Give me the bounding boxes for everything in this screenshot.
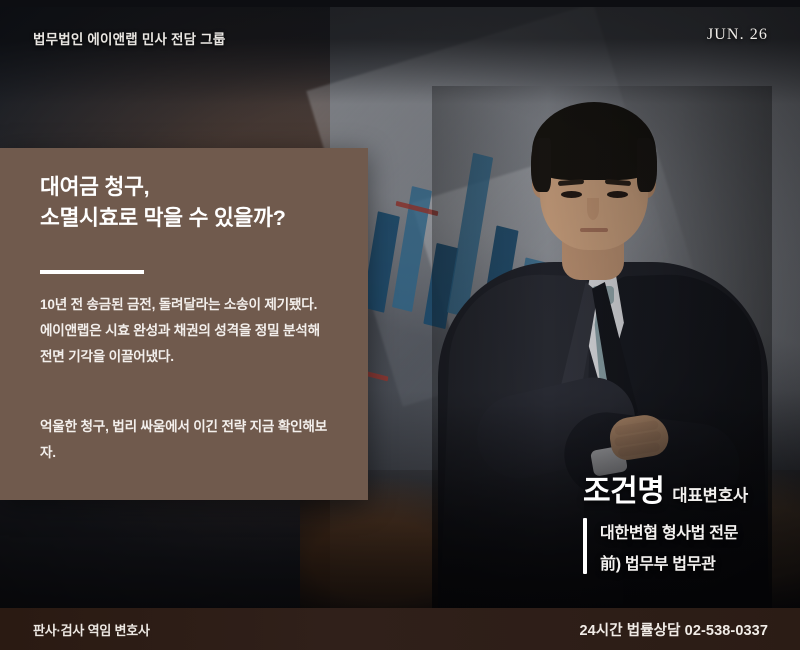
footer-bar: 판사·검사 역임 변호사 24시간 법률상담 02-538-0337 [0, 608, 800, 650]
headline: 대여금 청구, 소멸시효로 막을 수 있을까? [40, 172, 340, 233]
body-paragraph-2: 억울한 청구, 법리 싸움에서 이긴 전략 지금 확인해보자. [40, 414, 332, 466]
issue-date-label: JUN. 26 [707, 26, 768, 44]
credential-item: 대한변협 형사법 전문 [600, 519, 738, 543]
credentials-list: 대한변협 형사법 전문 前) 법무부 법무관 [600, 518, 738, 574]
attorney-credentials: 대한변협 형사법 전문 前) 법무부 법무관 [583, 518, 798, 574]
headline-line-2: 소멸시효로 막을 수 있을까? [40, 203, 340, 234]
attorney-name-row: 조건명 대표변호사 [583, 466, 798, 510]
promotional-card: 법무법인 에이앤랩 민사 전담 그룹 JUN. 26 대여금 청구, 소멸시효로… [0, 0, 800, 650]
credential-item: 前) 법무부 법무관 [600, 550, 738, 574]
body-paragraph-1: 10년 전 송금된 금전, 돌려달라는 소송이 제기됐다. 에이앤랩은 시효 완… [40, 292, 332, 370]
top-strip [0, 0, 800, 7]
headline-panel: 대여금 청구, 소멸시효로 막을 수 있을까? 10년 전 송금된 금전, 돌려… [0, 148, 368, 500]
headline-divider [40, 270, 144, 274]
credentials-accent-bar [583, 518, 587, 574]
brand-label: 법무법인 에이앤랩 민사 전담 그룹 [33, 28, 225, 48]
footer-contact[interactable]: 24시간 법률상담 02-538-0337 [579, 619, 768, 640]
attorney-title: 대표변호사 [672, 482, 748, 506]
attorney-name: 조건명 [583, 466, 664, 510]
footer-tagline: 판사·검사 역임 변호사 [33, 620, 150, 639]
attorney-profile-block: 조건명 대표변호사 대한변협 형사법 전문 前) 법무부 법무관 [583, 466, 798, 574]
headline-line-1: 대여금 청구, [40, 175, 149, 199]
